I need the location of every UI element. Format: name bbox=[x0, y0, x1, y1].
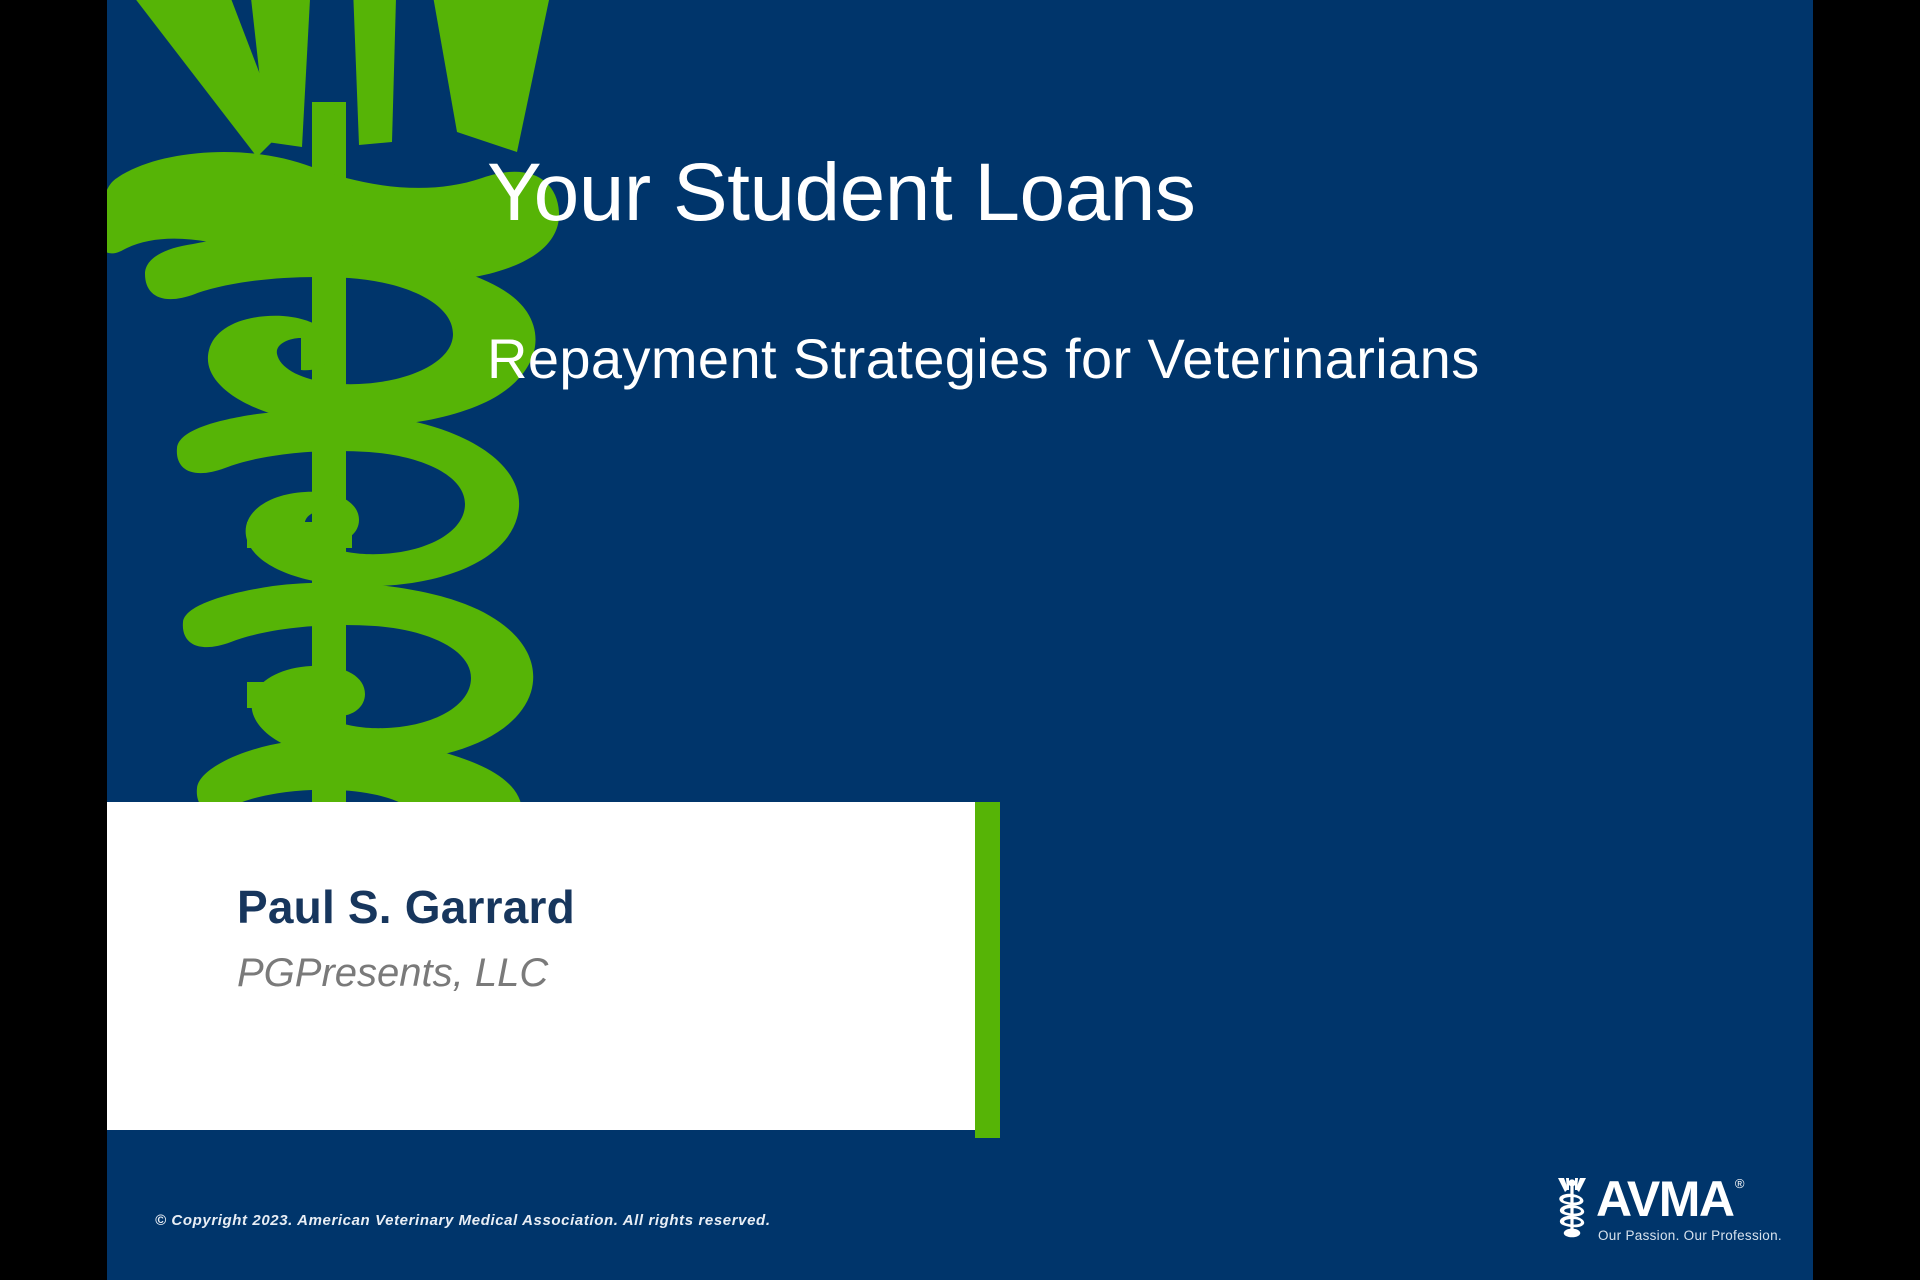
avma-wordmark-text: AVMA bbox=[1596, 1171, 1734, 1227]
presentation-slide: Your Student Loans Repayment Strategies … bbox=[107, 0, 1813, 1280]
avma-wordmark: AVMA® bbox=[1596, 1176, 1734, 1224]
caduceus-dollar-graphic bbox=[107, 0, 567, 862]
title-block: Your Student Loans Repayment Strategies … bbox=[487, 150, 1787, 390]
registered-trademark-icon: ® bbox=[1735, 1178, 1745, 1190]
presenter-text-group: Paul S. Garrard PGPresents, LLC bbox=[237, 880, 937, 997]
presenter-card: Paul S. Garrard PGPresents, LLC bbox=[107, 802, 995, 1130]
copyright-notice: © Copyright 2023. American Veterinary Me… bbox=[155, 1212, 771, 1229]
avma-logo: AVMA® Our Passion. Our Profession. bbox=[1557, 1176, 1772, 1252]
presenter-organization: PGPresents, LLC bbox=[237, 935, 937, 997]
avma-wordmark-group: AVMA® Our Passion. Our Profession. bbox=[1596, 1176, 1782, 1243]
slide-frame: Your Student Loans Repayment Strategies … bbox=[0, 0, 1920, 1280]
page-title: Your Student Loans bbox=[487, 150, 1787, 236]
presenter-card-accent-bar bbox=[975, 802, 1000, 1138]
letterbox-left bbox=[0, 0, 107, 1280]
page-subtitle: Repayment Strategies for Veterinarians bbox=[487, 236, 1787, 390]
caduceus-icon bbox=[1557, 1176, 1587, 1240]
letterbox-right bbox=[1813, 0, 1920, 1280]
presenter-name: Paul S. Garrard bbox=[237, 880, 937, 935]
